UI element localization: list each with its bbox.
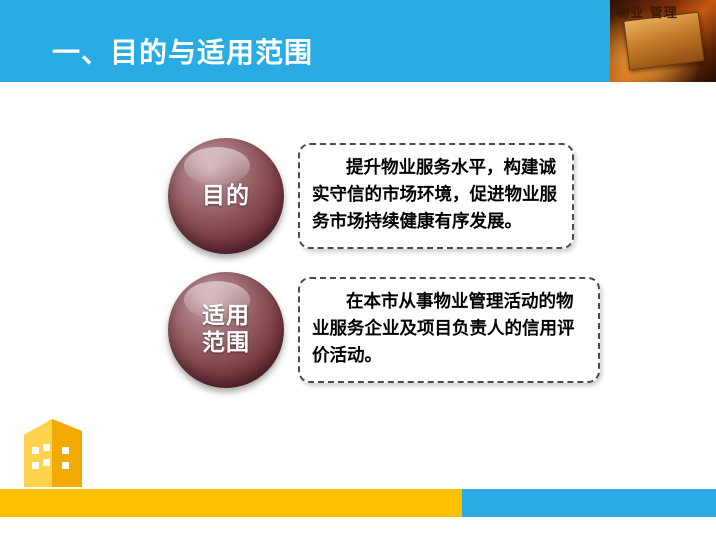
- bubble-purpose-label: 目的: [202, 183, 250, 210]
- content-row-purpose: 目的 提升物业服务水平，构建诚实守信的市场环境，促进物业服务市场持续健康有序发展…: [168, 138, 574, 254]
- bubble-scope: 适用 范围: [168, 272, 284, 388]
- content-row-scope: 适用 范围 在本市从事物业管理活动的物业服务企业及项目负责人的信用评价活动。: [168, 272, 600, 388]
- callout-scope-text: 在本市从事物业管理活动的物业服务企业及项目负责人的信用评价活动。: [298, 277, 600, 383]
- banner-caption: 物业 管理: [610, 4, 684, 23]
- property-management-banner-image: 物业 管理: [610, 0, 716, 82]
- bottom-blue-bar: [462, 489, 716, 517]
- bubble-scope-label: 适用 范围: [202, 303, 250, 357]
- callout-purpose-text: 提升物业服务水平，构建诚实守信的市场环境，促进物业服务市场持续健康有序发展。: [298, 143, 574, 249]
- bottom-white-strip: [0, 517, 716, 543]
- header-bar: 一、目的与适用范围: [0, 0, 716, 82]
- page-title: 一、目的与适用范围: [52, 36, 313, 70]
- bubble-purpose: 目的: [168, 138, 284, 254]
- building-icon: [22, 417, 84, 495]
- slide: 一、目的与适用范围 物业 管理 目的 提升物业服务水平，构建诚实守信的市场环境，…: [0, 0, 716, 543]
